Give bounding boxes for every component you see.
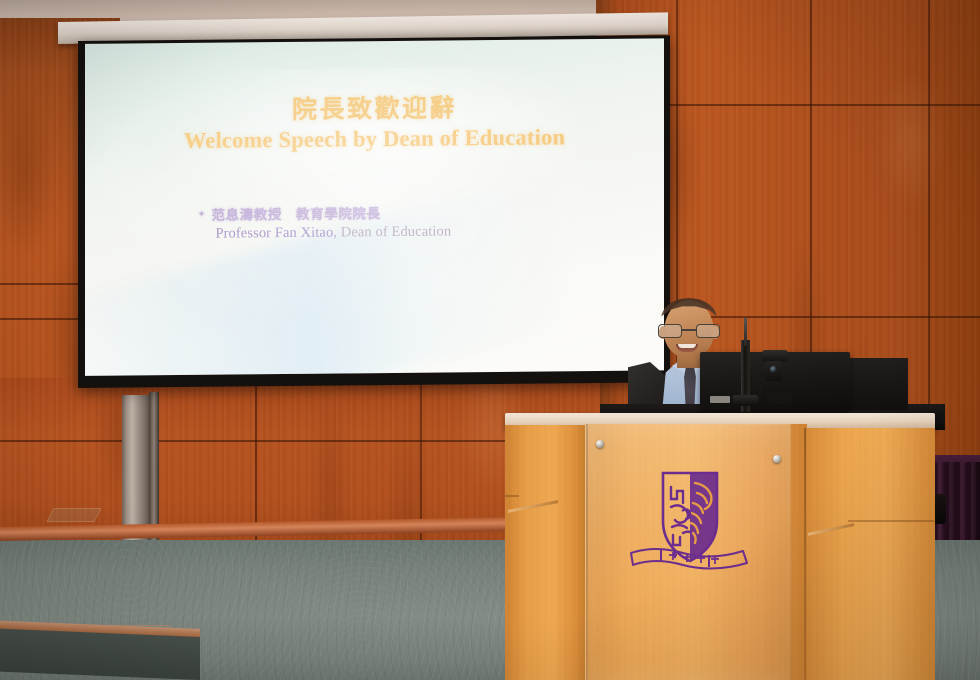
lens-left	[658, 324, 682, 338]
eyeglasses	[658, 324, 720, 338]
slide-bullet-item: ✦ 范息濤教授 教育學院院長 Professor Fan Xitao, Dean…	[198, 201, 451, 242]
step-riser	[0, 629, 200, 680]
projection-screen-frame: 院長致歡迎辭 Welcome Speech by Dean of Educati…	[78, 35, 670, 388]
panel-standoff-screw	[773, 455, 781, 463]
floor-access-panel	[46, 508, 101, 522]
podium-edge-right	[804, 428, 806, 680]
support-pillar-edge	[149, 392, 159, 564]
podium-side-left	[505, 425, 587, 680]
cuhk-crest	[625, 465, 753, 580]
speaker-name-latin: Professor Fan Xitao	[215, 225, 333, 242]
panel-standoff-screw	[596, 440, 604, 448]
speaker-name-chinese: 范息濤教授 教育學院院長	[211, 201, 451, 223]
monitor-label	[710, 396, 730, 403]
slide-title-english: Welcome Speech by Dean of Education	[85, 123, 664, 155]
speaker-name-english: Professor Fan Xitao, Dean of Education	[215, 223, 451, 242]
slide-content: 院長致歡迎辭 Welcome Speech by Dean of Educati…	[85, 38, 664, 376]
glasses-bridge	[682, 329, 696, 331]
wood-grain-texture	[505, 425, 587, 680]
secondary-display	[846, 358, 908, 410]
teeth	[678, 344, 696, 348]
lecture-hall-photo: 院長致歡迎辭 Welcome Speech by Dean of Educati…	[0, 0, 980, 680]
slide-title-chinese: 院長致歡迎辭	[85, 86, 664, 128]
podium-side-right	[805, 428, 935, 680]
webcam-lens	[770, 366, 777, 373]
microphone-base	[733, 395, 758, 406]
lens-right	[696, 324, 720, 338]
panel-seam	[420, 378, 422, 563]
speaker-role-latin: , Dean of Education	[333, 223, 451, 240]
wood-grain-texture	[805, 428, 935, 680]
microphone-stem	[744, 318, 747, 346]
projection-screen-surface: 院長致歡迎辭 Welcome Speech by Dean of Educati…	[85, 38, 664, 376]
podium-notch-left-flat	[505, 495, 519, 497]
podium-notch-right-flat	[848, 520, 934, 522]
bullet-marker-icon: ✦	[198, 210, 206, 219]
bullet-text-block: 范息濤教授 教育學院院長 Professor Fan Xitao, Dean o…	[211, 201, 451, 242]
